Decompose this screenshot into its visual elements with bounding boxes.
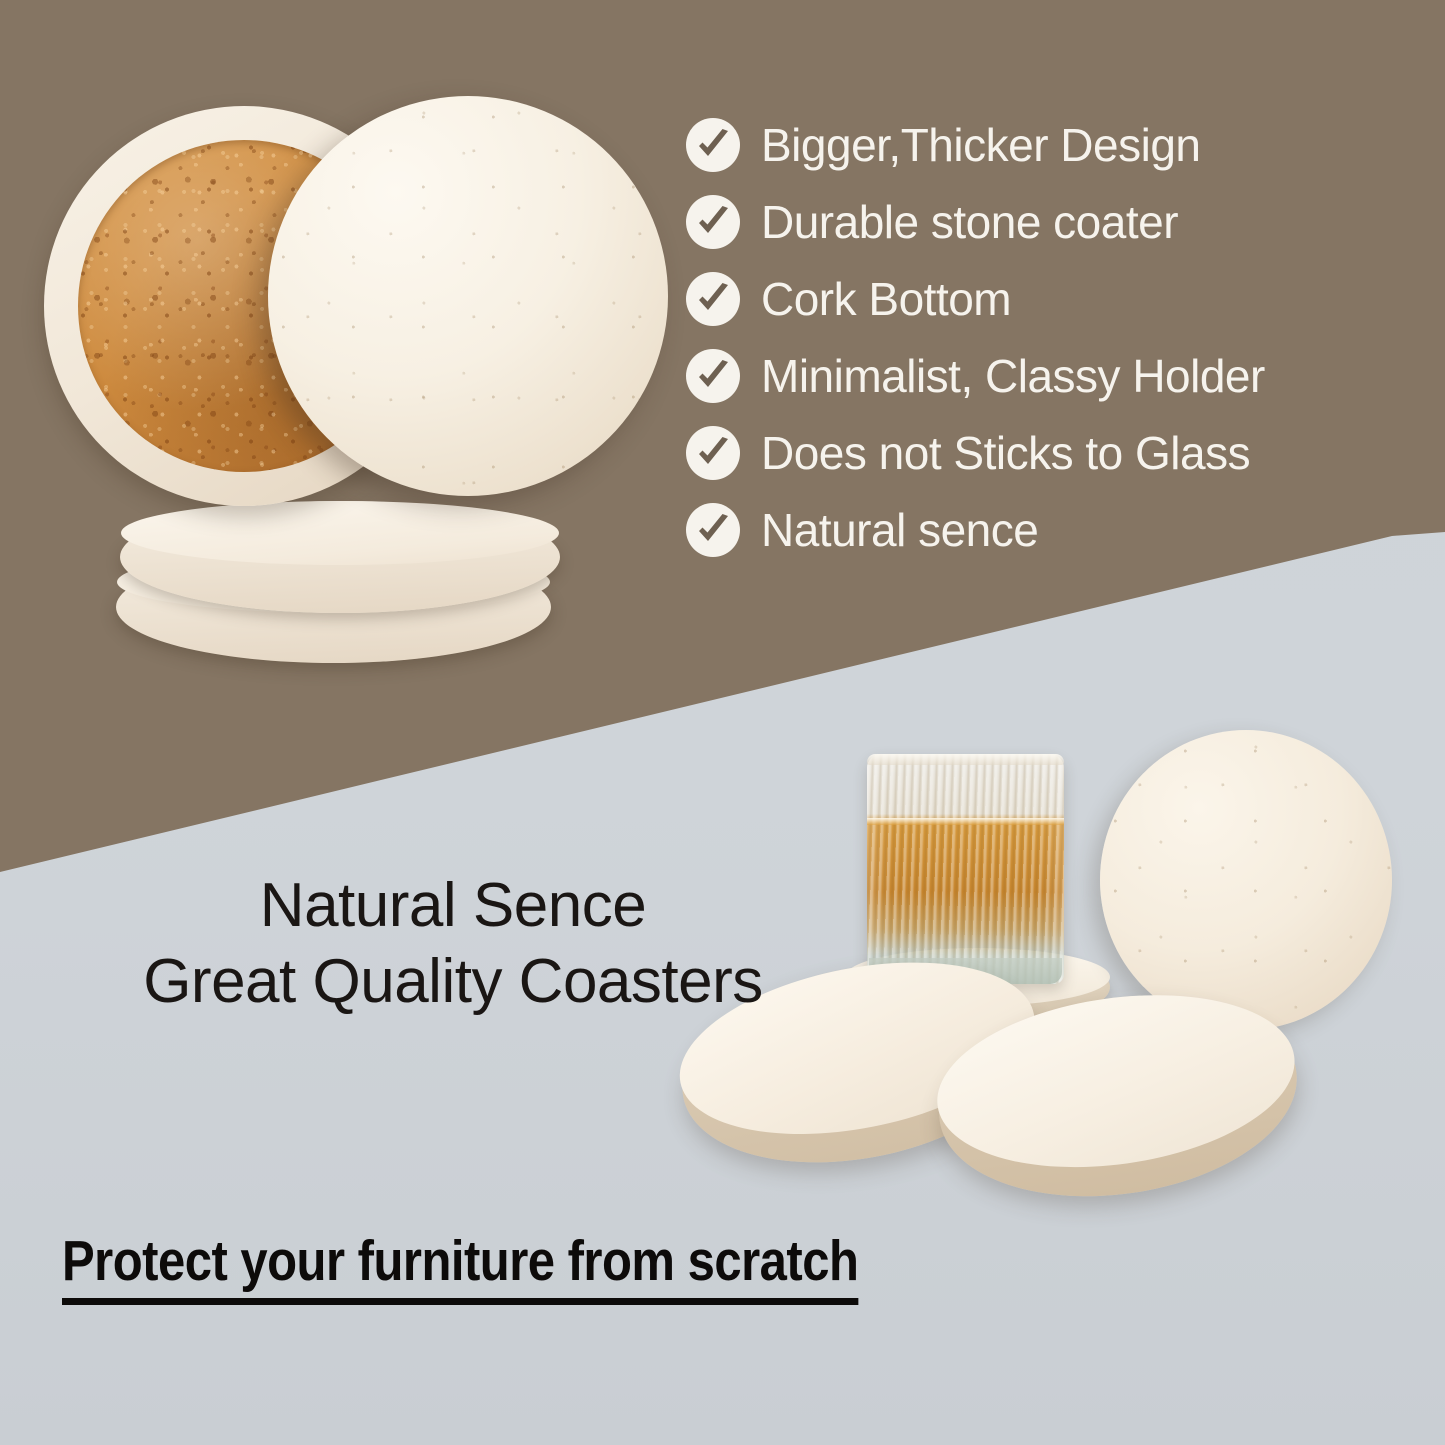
stone-speckle-texture	[1100, 730, 1392, 1030]
feature-list: Bigger,Thicker Design Durable stone coat…	[686, 106, 1386, 568]
product-infographic: Bigger,Thicker Design Durable stone coat…	[0, 0, 1445, 1445]
headline-line-2: Great Quality Coasters	[58, 944, 848, 1020]
banner-text: Protect your furniture from scratch	[62, 1232, 858, 1305]
stone-speckle-texture	[268, 96, 668, 496]
feature-label: Durable stone coater	[761, 199, 1178, 245]
bottom-banner: Protect your furniture from scratch	[62, 1232, 988, 1305]
feature-item: Natural sence	[686, 491, 1386, 568]
headline-line-1: Natural Sence	[58, 868, 848, 944]
coaster-stack-photo	[38, 96, 658, 676]
upright-coaster	[1100, 730, 1392, 1030]
check-circle-icon	[686, 426, 740, 480]
feature-label: Natural sence	[761, 507, 1038, 553]
feature-item: Durable stone coater	[686, 183, 1386, 260]
feature-item: Cork Bottom	[686, 260, 1386, 337]
feature-label: Does not Sticks to Glass	[761, 430, 1250, 476]
check-circle-icon	[686, 503, 740, 557]
check-circle-icon	[686, 272, 740, 326]
whiskey-glass	[867, 754, 1064, 984]
glass-body	[867, 754, 1064, 984]
headline-block: Natural Sence Great Quality Coasters	[58, 868, 848, 1019]
stacked-coaster-upper	[120, 501, 560, 613]
standing-coaster-front-face	[268, 96, 668, 496]
check-circle-icon	[686, 118, 740, 172]
feature-label: Cork Bottom	[761, 276, 1011, 322]
check-circle-icon	[686, 195, 740, 249]
feature-item: Bigger,Thicker Design	[686, 106, 1386, 183]
feature-label: Minimalist, Classy Holder	[761, 353, 1265, 399]
glass-rim	[867, 754, 1064, 765]
check-circle-icon	[686, 349, 740, 403]
feature-item: Does not Sticks to Glass	[686, 414, 1386, 491]
feature-item: Minimalist, Classy Holder	[686, 337, 1386, 414]
feature-label: Bigger,Thicker Design	[761, 122, 1200, 168]
